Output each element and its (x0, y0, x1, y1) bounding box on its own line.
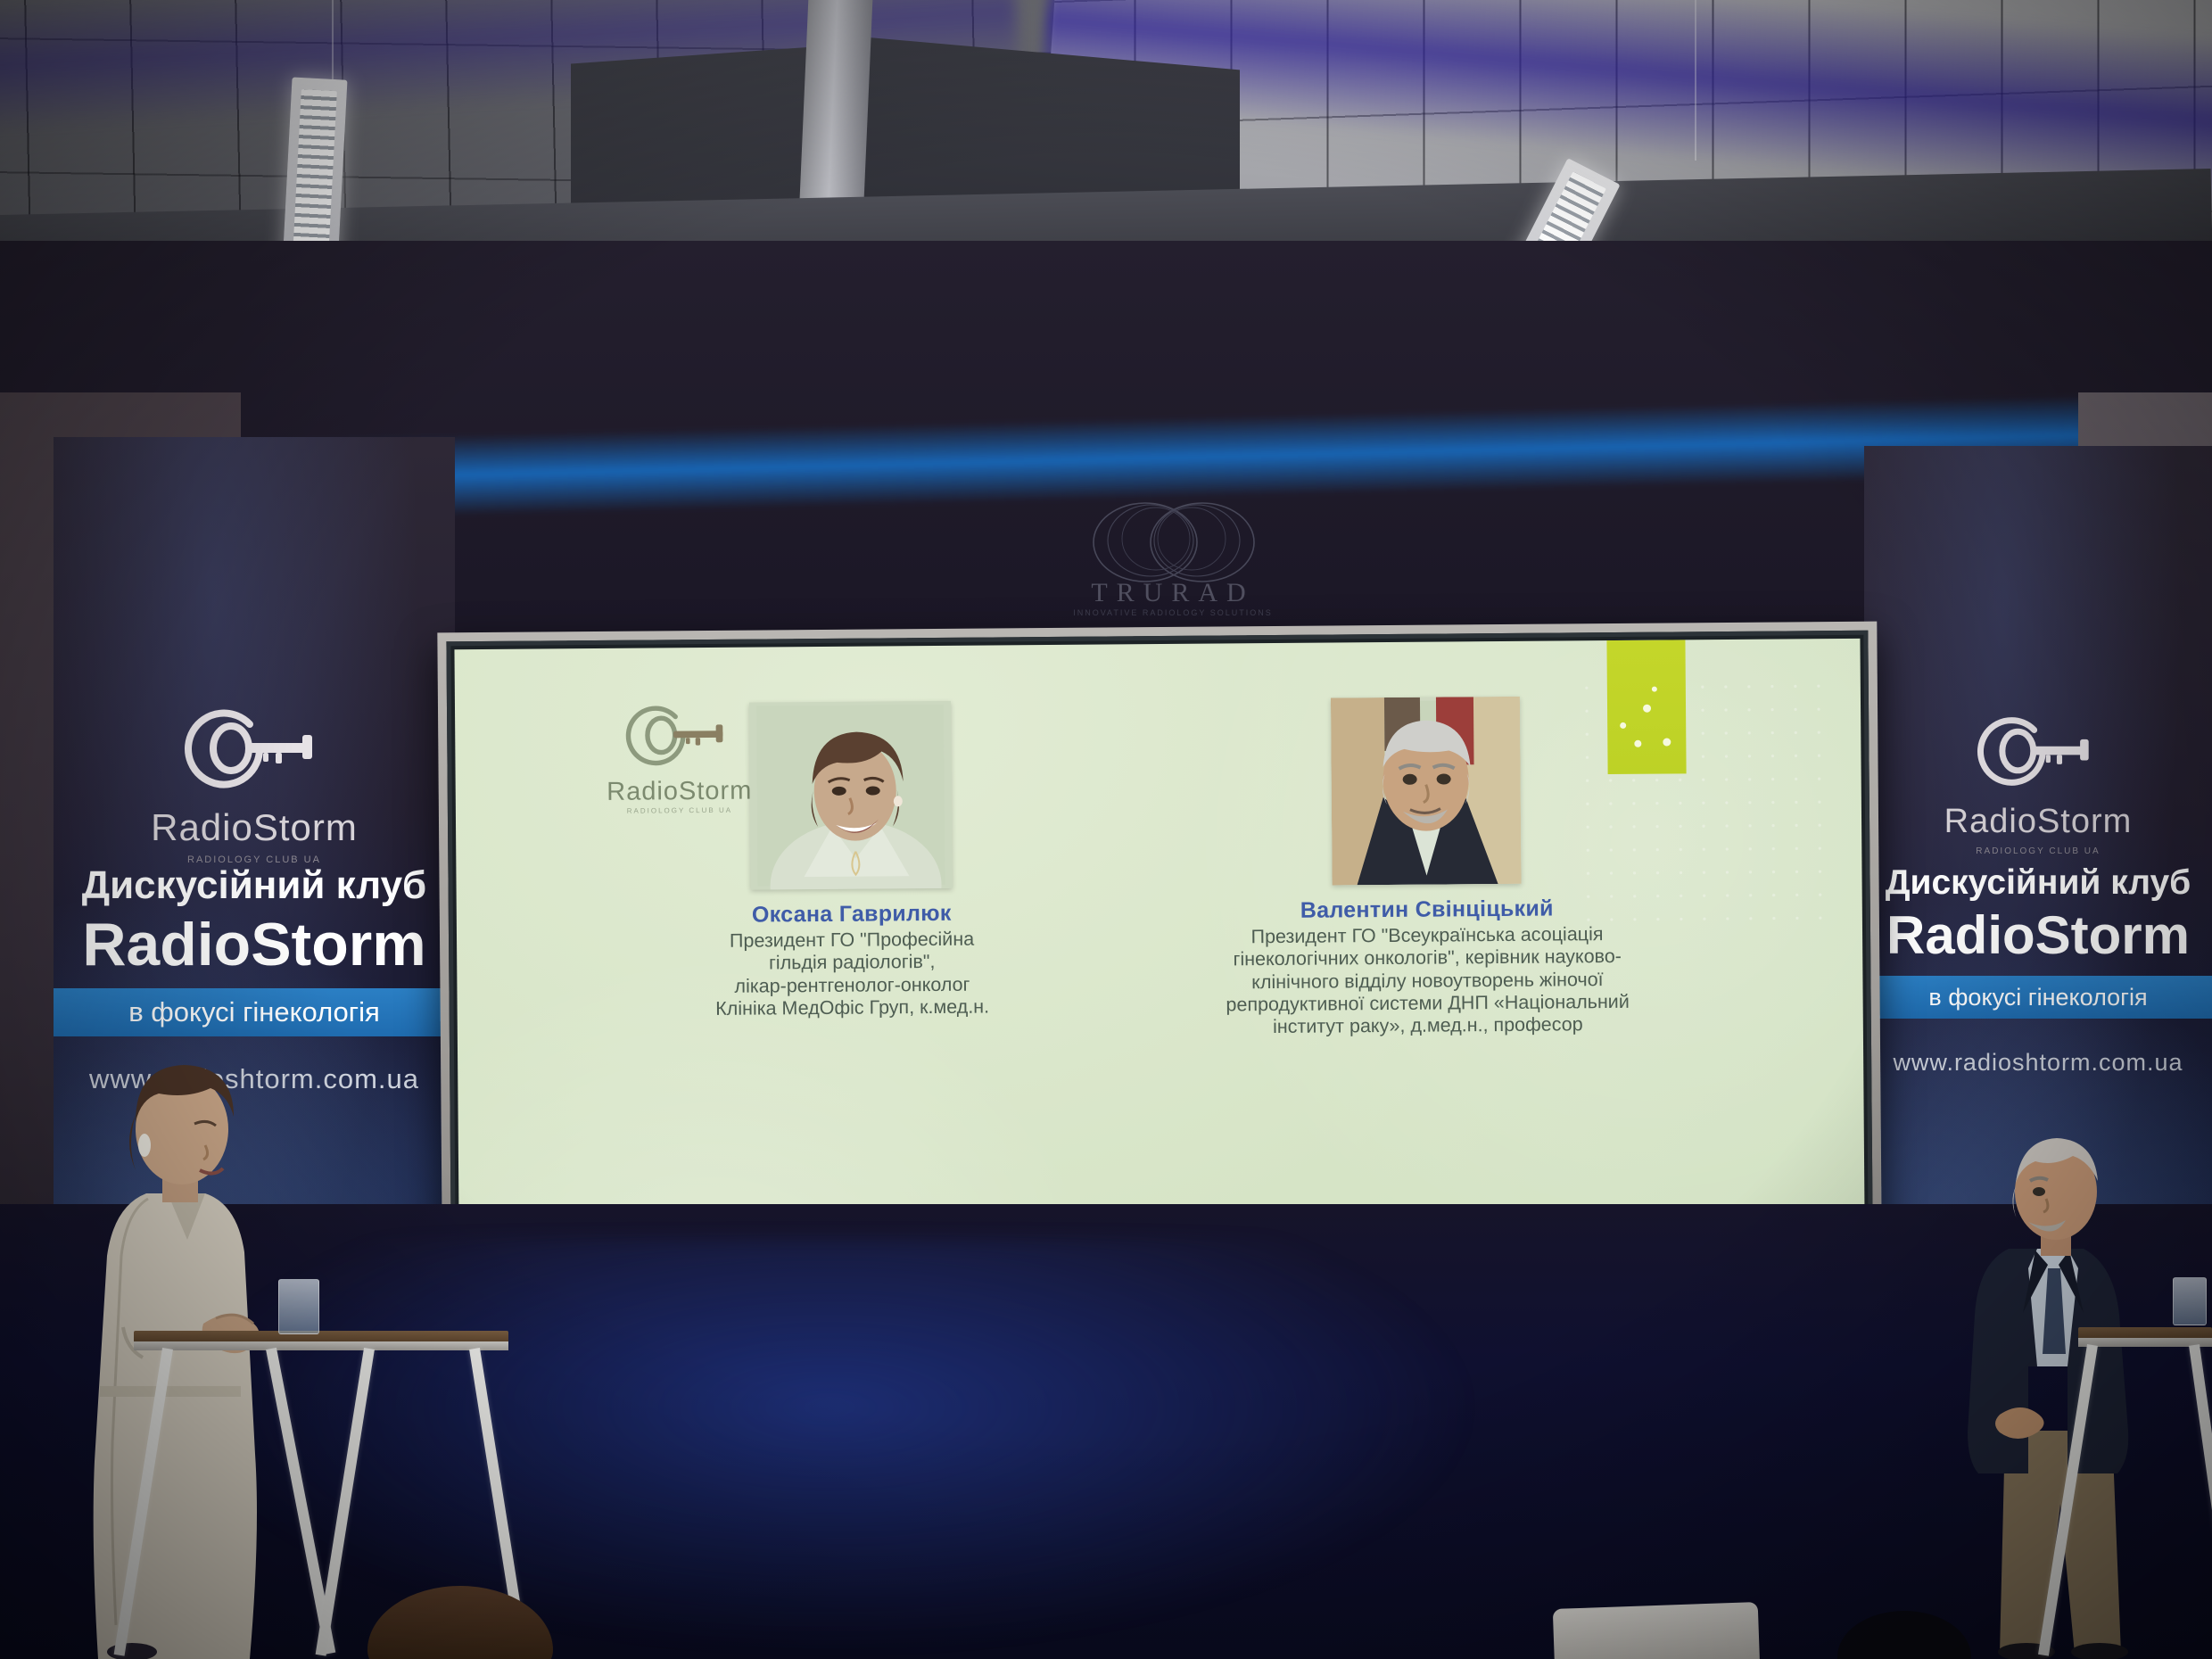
speaker-bio-line: Клініка МедОфіс Груп, к.мед.н. (715, 996, 989, 1021)
banner-left-logo: RadioStorm RADIOLOGY CLUB UA (54, 696, 455, 865)
table-leg (2189, 1344, 2212, 1656)
speaker-bio-line: гільдія радіологів", (715, 951, 989, 976)
portrait-woman-icon (749, 701, 953, 890)
two-overlapping-circles-icon (1086, 501, 1261, 583)
speaker-bio: Президент ГО "Професійна гільдія радіоло… (715, 929, 990, 1021)
banner-right-strip-text: в фокусі гінекологія (1928, 984, 2147, 1011)
slide-speakers-row: Оксана Гаврилюк Президент ГО "Професійна… (455, 694, 1863, 1045)
water-glass (278, 1279, 319, 1334)
banner-right-logo: RadioStorm RADIOLOGY CLUB UA (1864, 705, 2212, 856)
speaker-bio-line: інститут раку», д.мед.н., професор (1178, 1013, 1678, 1040)
speaker-name: Оксана Гаврилюк (752, 901, 952, 929)
banner-left-logo-wordmark: RadioStorm (151, 806, 358, 849)
speaker-bio-line: Президент ГО "Професійна (715, 929, 989, 953)
banner-left-title-line1: Дискусійний клуб (54, 863, 455, 908)
banner-right-url: www.radioshtorm.com.ua (1864, 1049, 2212, 1077)
portrait-man-icon (1331, 697, 1522, 886)
speaker-photo (749, 701, 953, 890)
lime-dot (1652, 687, 1657, 692)
key-in-circle-icon (1971, 705, 2105, 797)
trurad-logo: TRURAD INNOVATIVE RADIOLOGY SOLUTIONS (1061, 499, 1284, 633)
table-leg (316, 1348, 375, 1656)
banner-right-title: Дискусійний клуб RadioStorm (1864, 863, 2212, 966)
trurad-wordmark: TRURAD (1061, 578, 1284, 608)
speaker-name: Валентин Свінціцький (1300, 896, 1554, 924)
banner-right-logo-subtitle: RADIOLOGY CLUB UA (1976, 846, 2100, 856)
speaker-bio-line: репродуктивної системи ДНП «Національний (1178, 991, 1678, 1018)
pendant-tube-left (293, 89, 336, 257)
banner-left-title: Дискусійний клуб RadioStorm (54, 863, 455, 979)
table-edge-left (134, 1341, 508, 1350)
banner-right-logo-wordmark: RadioStorm (1944, 803, 2133, 841)
chair-back-silhouette (1553, 1602, 1760, 1659)
trurad-tagline: INNOVATIVE RADIOLOGY SOLUTIONS (1061, 608, 1284, 617)
speaker-bio-line: лікар-рентгенолог-онколог (715, 973, 989, 998)
banner-left-strip: в фокусі гінекологія (54, 988, 455, 1036)
banner-right-title-line2: RadioStorm (1864, 904, 2212, 966)
photo-scene: TRURAD INNOVATIVE RADIOLOGY SOLUTIONS Ra… (0, 0, 2212, 1659)
water-glass (2173, 1277, 2207, 1325)
high-table-right (2078, 1324, 2212, 1659)
banner-left-strip-text: в фокусі гінекологія (128, 996, 380, 1028)
pendant-wire-right (1695, 0, 1696, 161)
pendant-wire-left (332, 0, 334, 82)
banner-right-strip: в фокусі гінекологія (1864, 976, 2212, 1019)
speaker-photo (1331, 697, 1522, 886)
speaker-bio: Президент ГО "Всеукраїнська асоціація гі… (1177, 922, 1678, 1039)
speaker-card: Оксана Гаврилюк Президент ГО "Професійна… (658, 700, 1044, 1044)
banner-right-title-line1: Дискусійний клуб (1864, 863, 2212, 903)
speaker-card: Валентин Свінціцький Президент ГО "Всеук… (1193, 696, 1660, 1040)
key-in-circle-icon (177, 696, 331, 801)
banner-left-title-line2: RadioStorm (54, 910, 455, 979)
